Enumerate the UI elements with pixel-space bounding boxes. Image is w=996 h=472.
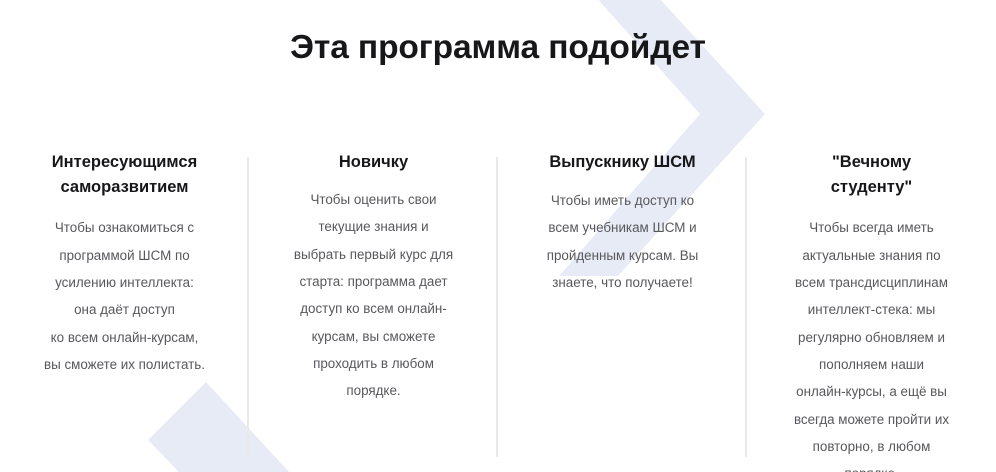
audience-columns: Интересующимся саморазвитием Чтобы ознак… [0, 150, 996, 472]
column-body-text: Чтобы оценить свои текущие знания и выбр… [271, 186, 476, 405]
program-audience-section: Эта программа подойдет Интересующимся са… [0, 0, 996, 472]
column-body-text: Чтобы ознакомиться с программой ШСМ по у… [22, 214, 227, 378]
audience-column-graduate-shsm: Выпускнику ШСМ Чтобы иметь доступ ко все… [498, 150, 747, 472]
column-heading: "Вечному студенту" [769, 150, 974, 200]
page-title: Эта программа подойдет [0, 27, 996, 69]
audience-column-interested-self-development: Интересующимся саморазвитием Чтобы ознак… [0, 150, 249, 472]
column-heading: Интересующимся саморазвитием [22, 150, 227, 200]
audience-column-eternal-student: "Вечному студенту" Чтобы всегда иметь ак… [747, 150, 996, 472]
column-body-text: Чтобы всегда иметь актуальные знания по … [769, 214, 974, 472]
column-body-text: Чтобы иметь доступ ко всем учебникам ШСМ… [520, 187, 725, 296]
column-heading: Новичку [271, 150, 476, 175]
audience-column-beginner: Новичку Чтобы оценить свои текущие знани… [249, 150, 498, 472]
column-heading: Выпускнику ШСМ [520, 150, 725, 175]
